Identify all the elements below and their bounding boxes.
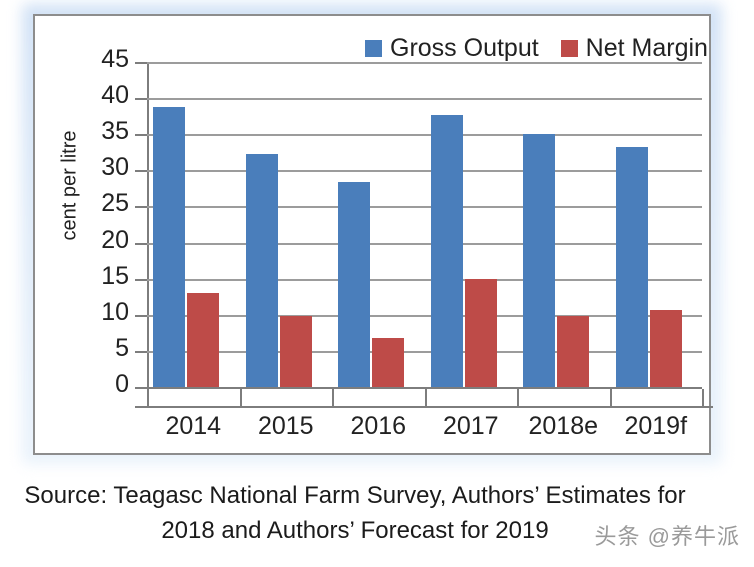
figure-root: Gross Output Net Margin cent per litre 4…: [0, 0, 754, 567]
bar-gross-output-2015[interactable]: [246, 154, 278, 387]
plot-wrapper: Gross Output Net Margin cent per litre 4…: [35, 16, 713, 457]
y-tick-30: [135, 170, 147, 172]
y-tick-5: [135, 351, 147, 353]
bar-group-2014: [147, 62, 240, 387]
y-tick-10: [135, 315, 147, 317]
bar-net-margin-2016[interactable]: [372, 338, 404, 387]
bar-gross-output-2014[interactable]: [153, 107, 185, 387]
x-tick-2016: [425, 389, 427, 406]
y-tick-15: [135, 279, 147, 281]
legend-swatch-gross-output-icon: [365, 40, 382, 57]
y-axis-label-35: 35: [59, 117, 129, 146]
chart-legend: Gross Output Net Margin: [365, 34, 708, 63]
x-axis-label-2019f: 2019f: [591, 412, 721, 441]
y-axis-label-25: 25: [59, 189, 129, 218]
y-axis-label-5: 5: [59, 334, 129, 363]
source-caption-line-1: Source: Teagasc National Farm Survey, Au…: [0, 478, 710, 513]
x-tick-2018e: [610, 389, 612, 406]
bar-net-margin-2015[interactable]: [280, 316, 312, 388]
x-tick-origin: [147, 389, 149, 406]
y-axis-label-45: 45: [59, 45, 129, 74]
legend-label-gross-output: Gross Output: [390, 34, 539, 63]
y-tick-40: [135, 98, 147, 100]
x-tick-2014: [240, 389, 242, 406]
watermark: 头条 @养牛派: [595, 519, 740, 551]
legend-item-net-margin[interactable]: Net Margin: [561, 34, 708, 63]
bar-gross-output-2016[interactable]: [338, 182, 370, 387]
plot-area: [147, 62, 702, 387]
y-axis-label-0: 0: [59, 370, 129, 399]
x-tick-2017: [517, 389, 519, 406]
x-tick-2015: [332, 389, 334, 406]
y-tick-0: [135, 387, 147, 389]
y-tick-25: [135, 206, 147, 208]
bar-group-2019f: [610, 62, 703, 387]
bar-gross-output-2018e[interactable]: [523, 134, 555, 387]
legend-item-gross-output[interactable]: Gross Output: [365, 34, 539, 63]
bar-net-margin-2014[interactable]: [187, 293, 219, 387]
y-tick-45: [135, 62, 147, 64]
y-axis-label-15: 15: [59, 262, 129, 291]
y-axis-label-30: 30: [59, 153, 129, 182]
legend-swatch-net-margin-icon: [561, 40, 578, 57]
bar-group-2015: [240, 62, 333, 387]
bar-net-margin-2019f[interactable]: [650, 310, 682, 387]
bar-gross-output-2019f[interactable]: [616, 147, 648, 388]
chart-frame: Gross Output Net Margin cent per litre 4…: [33, 14, 711, 455]
x-tick-2019f: [702, 389, 704, 406]
y-axis-label-20: 20: [59, 226, 129, 255]
x-axis-line: [135, 406, 713, 408]
y-axis-label-10: 10: [59, 298, 129, 327]
y-axis-label-40: 40: [59, 81, 129, 110]
bar-net-margin-2018e[interactable]: [557, 316, 589, 388]
bar-net-margin-2017[interactable]: [465, 279, 497, 387]
y-tick-20: [135, 243, 147, 245]
y-tick-35: [135, 134, 147, 136]
bar-gross-output-2017[interactable]: [431, 115, 463, 387]
bar-group-2016: [332, 62, 425, 387]
bar-group-2018e: [517, 62, 610, 387]
legend-label-net-margin: Net Margin: [586, 34, 708, 63]
bar-group-2017: [425, 62, 518, 387]
